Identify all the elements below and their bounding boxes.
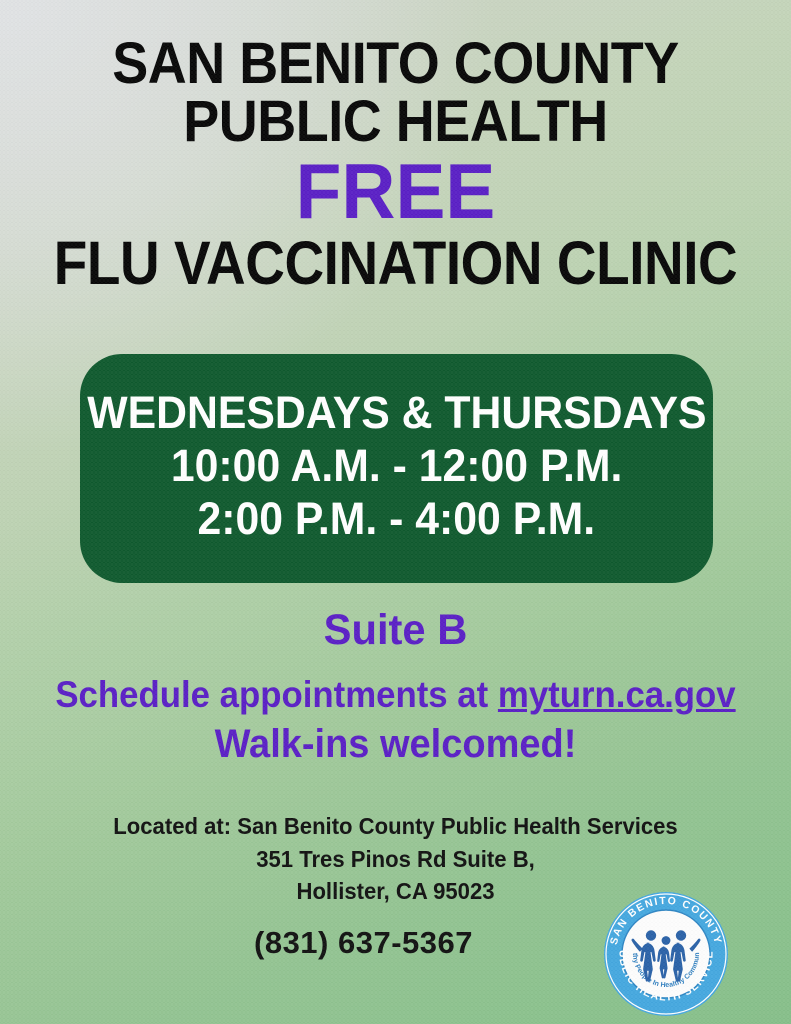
headline-line-3: FLU VACCINATION CLINIC (40, 234, 752, 293)
schedule-line: Schedule appointments at myturn.ca.gov (24, 674, 768, 716)
phone-number-text: (831) 637-5367 (254, 925, 473, 961)
headline-line-2: PUBLIC HEALTH (28, 94, 764, 150)
schedule-prefix: Schedule appointments at (55, 674, 498, 715)
hours-afternoon: 2:00 P.M. - 4:00 P.M. (198, 492, 596, 545)
flu-clinic-poster: SAN BENITO COUNTY PUBLIC HEALTH FREE FLU… (0, 0, 791, 1024)
hours-morning: 10:00 A.M. - 12:00 P.M. (171, 439, 622, 492)
myturn-link[interactable]: myturn.ca.gov (498, 674, 736, 715)
public-health-seal-logo: SAN BENITO COUNTY PUBLIC HEALTH SERVICES… (602, 890, 730, 1018)
hours-days: WEDNESDAYS & THURSDAYS (87, 386, 706, 439)
headline-block: SAN BENITO COUNTY PUBLIC HEALTH FREE FLU… (0, 36, 791, 292)
headline-line-1: SAN BENITO COUNTY (28, 36, 764, 92)
suite-label: Suite B (12, 606, 779, 655)
walkins-label: Walk-ins welcomed! (20, 722, 771, 767)
hours-card: WEDNESDAYS & THURSDAYS 10:00 A.M. - 12:0… (80, 354, 713, 583)
address-line-1: Located at: San Benito County Public Hea… (16, 810, 775, 843)
headline-free: FREE (16, 153, 775, 229)
address-line-2: 351 Tres Pinos Rd Suite B, (16, 843, 775, 876)
